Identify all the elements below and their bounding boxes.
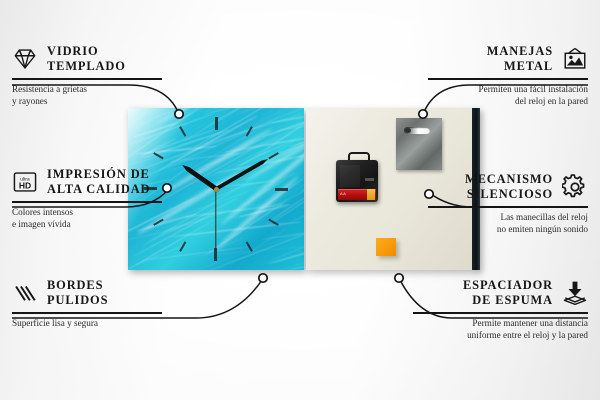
product-image: AA [128, 108, 472, 270]
callout-desc-line2: uniforme entre el reloj y la pared [413, 329, 588, 341]
battery-label: AA [340, 191, 346, 196]
callout-title-line2: SILENCIOSO [465, 187, 553, 202]
callout-rule [12, 78, 162, 80]
callout-desc-line1: Resistencia a grietas [12, 83, 162, 95]
callout-rule [12, 312, 162, 314]
callout-impresion-alta-calidad[interactable]: ultra HD IMPRESIÓN DE ALTA CALIDAD Color… [12, 167, 162, 231]
callout-title-line2: TEMPLADO [47, 59, 126, 74]
callout-desc-line2: e imagen vívida [12, 218, 162, 230]
callout-title-line1: VIDRIO [47, 44, 126, 59]
callout-title-line2: DE ESPUMA [463, 293, 553, 308]
callout-vidrio-templado[interactable]: VIDRIO TEMPLADO Resistencia a grietas y … [12, 44, 162, 108]
diamond-icon [12, 46, 38, 72]
mechanism-body: AA [336, 160, 378, 202]
callout-title-line1: IMPRESIÓN DE [47, 167, 150, 182]
callout-desc-line1: Permite mantener una distancia [413, 317, 588, 329]
callout-rule [428, 78, 588, 80]
callout-desc-line1: Superficie lisa y segura [12, 317, 162, 329]
callout-manejas-metal[interactable]: MANEJAS METAL Permiten una fácil instala… [428, 44, 588, 108]
callout-title-line1: MECANISMO [465, 172, 553, 187]
gear-icon [562, 174, 588, 200]
callout-title-line1: MANEJAS [487, 44, 553, 59]
clock-tick [216, 188, 288, 190]
ultra-hd-icon-bottom: HD [19, 181, 31, 191]
hanger-keyhole-slot [404, 127, 430, 134]
callout-desc-line1: Las manecillas del reloj [428, 211, 588, 223]
quartz-mechanism: AA [336, 158, 378, 202]
clock-center-pin [214, 187, 219, 192]
callout-espaciador-de-espuma[interactable]: ESPACIADOR DE ESPUMA Permite mantener un… [413, 278, 588, 342]
polished-edges-icon [12, 280, 38, 306]
callout-title-line2: METAL [487, 59, 553, 74]
callout-rule [413, 312, 588, 314]
callout-desc-line2: del reloj en la pared [428, 95, 588, 107]
callout-mecanismo-silencioso[interactable]: MECANISMO SILENCIOSO Las manecillas del … [428, 172, 588, 236]
callout-desc-line1: Permiten una fácil instalación [428, 83, 588, 95]
clock-tick [215, 117, 217, 189]
battery: AA [338, 189, 376, 200]
callout-bordes-pulidos[interactable]: BORDES PULIDOS Superficie lisa y segura [12, 278, 162, 329]
callout-title-line1: ESPACIADOR [463, 278, 553, 293]
ultra-hd-icon: ultra HD [12, 169, 38, 195]
callout-rule [12, 201, 162, 203]
callout-desc-line1: Colores intensos [12, 206, 162, 218]
callout-title-line2: PULIDOS [47, 293, 108, 308]
callout-title-line2: ALTA CALIDAD [47, 182, 150, 197]
callout-desc-line2: y rayones [12, 95, 162, 107]
callout-rule [428, 206, 588, 208]
infographic-canvas: AA [0, 0, 600, 400]
foam-spacer [376, 238, 396, 256]
callout-desc-line2: no emiten ningún sonido [428, 223, 588, 235]
foam-spacer-icon [562, 280, 588, 306]
callout-title-line1: BORDES [47, 278, 108, 293]
wall-frame-icon [562, 46, 588, 72]
metal-hanger-plate [396, 118, 442, 170]
